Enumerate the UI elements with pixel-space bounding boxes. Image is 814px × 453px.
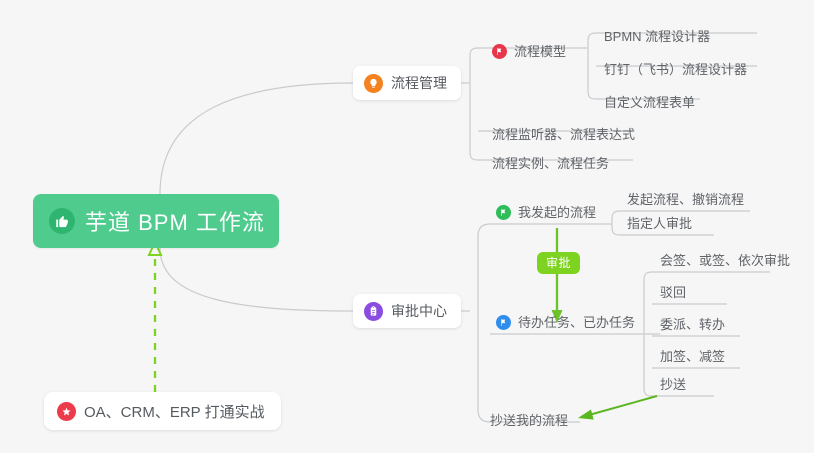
wire-root-to-approval xyxy=(160,248,353,311)
mindmap-canvas: 芋道 BPM 工作流 流程管理 流程模型 流程监听器、流程表达式 流程实例、流程… xyxy=(0,0,814,453)
branch-approval-center-label: 审批中心 xyxy=(391,301,447,321)
approve-tag[interactable]: 审批 xyxy=(537,252,580,274)
cc-flow-arrow xyxy=(589,396,657,415)
leaf-process-instance-label: 流程实例、流程任务 xyxy=(492,157,609,170)
leaf-custom-form[interactable]: 自定义流程表单 xyxy=(604,91,695,114)
leaf-cc-label: 抄送 xyxy=(660,378,686,391)
leaf-bpmn-designer[interactable]: BPMN 流程设计器 xyxy=(604,25,710,48)
leaf-delegate-transfer-label: 委派、转办 xyxy=(660,318,725,331)
wire-initiated-bracket xyxy=(612,211,620,235)
root-node[interactable]: 芋道 BPM 工作流 xyxy=(33,194,279,248)
leaf-cc[interactable]: 抄送 xyxy=(660,373,686,396)
leaf-process-listener-label: 流程监听器、流程表达式 xyxy=(492,128,635,141)
root-label: 芋道 BPM 工作流 xyxy=(85,205,265,237)
leaf-countersign[interactable]: 会签、或签、依次审批 xyxy=(660,249,790,272)
leaf-cc-to-me[interactable]: 抄送我的流程 xyxy=(490,409,568,432)
wire-todo-bracket xyxy=(644,272,652,396)
leaf-dingtalk-designer-label: 钉钉（飞书）流程设计器 xyxy=(604,63,747,76)
leaf-start-cancel-process-label: 发起流程、撤销流程 xyxy=(627,193,744,206)
integration-dashed-arrow xyxy=(149,242,161,392)
node-integration-practice[interactable]: OA、CRM、ERP 打通实战 xyxy=(44,392,281,430)
branch-approval-center[interactable]: 审批中心 xyxy=(353,294,461,328)
wire-root-to-process xyxy=(160,83,353,194)
leaf-assigned-approver[interactable]: 指定人审批 xyxy=(627,212,692,235)
leaf-start-cancel-process[interactable]: 发起流程、撤销流程 xyxy=(627,188,744,211)
star-icon xyxy=(57,402,76,421)
leaf-countersign-label: 会签、或签、依次审批 xyxy=(660,254,790,267)
leaf-my-initiated-label: 我发起的流程 xyxy=(518,206,596,219)
leaf-process-listener[interactable]: 流程监听器、流程表达式 xyxy=(492,123,635,146)
lightbulb-icon xyxy=(364,74,383,93)
cc-arrow-head xyxy=(578,410,594,420)
leaf-cc-to-me-label: 抄送我的流程 xyxy=(490,414,568,427)
leaf-dingtalk-designer[interactable]: 钉钉（飞书）流程设计器 xyxy=(604,58,747,81)
flag-icon xyxy=(496,315,511,330)
leaf-assigned-approver-label: 指定人审批 xyxy=(627,217,692,230)
leaf-delegate-transfer[interactable]: 委派、转办 xyxy=(660,313,725,336)
clipboard-icon xyxy=(364,302,383,321)
wire-model-bracket xyxy=(588,33,596,99)
leaf-reject[interactable]: 驳回 xyxy=(660,281,686,304)
leaf-process-instance[interactable]: 流程实例、流程任务 xyxy=(492,152,609,175)
wire-process-bracket xyxy=(470,48,478,160)
approve-tag-label: 审批 xyxy=(546,256,571,270)
leaf-todo-done-tasks[interactable]: 待办任务、已办任务 xyxy=(496,311,635,334)
leaf-process-model[interactable]: 流程模型 xyxy=(492,40,566,63)
leaf-my-initiated[interactable]: 我发起的流程 xyxy=(496,201,596,224)
leaf-todo-done-tasks-label: 待办任务、已办任务 xyxy=(518,316,635,329)
leaf-reject-label: 驳回 xyxy=(660,286,686,299)
node-integration-practice-label: OA、CRM、ERP 打通实战 xyxy=(84,401,265,422)
leaf-add-remove-sign-label: 加签、减签 xyxy=(660,350,725,363)
leaf-bpmn-designer-label: BPMN 流程设计器 xyxy=(604,30,710,43)
thumbs-up-icon xyxy=(49,208,75,234)
leaf-process-model-label: 流程模型 xyxy=(514,45,566,58)
leaf-add-remove-sign[interactable]: 加签、减签 xyxy=(660,345,725,368)
flag-icon xyxy=(492,44,507,59)
flag-icon xyxy=(496,205,511,220)
leaf-custom-form-label: 自定义流程表单 xyxy=(604,96,695,109)
branch-process-management[interactable]: 流程管理 xyxy=(353,66,461,100)
wire-approval-bracket xyxy=(478,224,490,422)
branch-process-management-label: 流程管理 xyxy=(391,73,447,93)
